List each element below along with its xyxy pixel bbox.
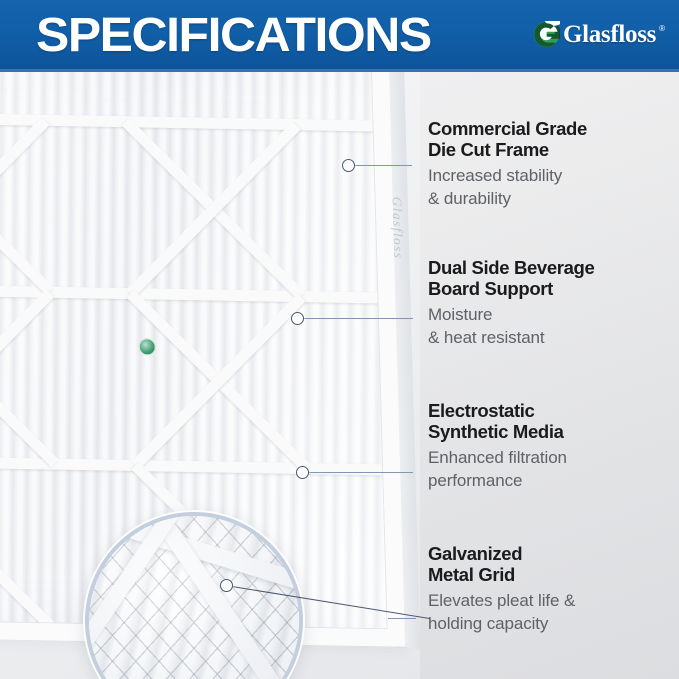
callout-electrostatic-media: Electrostatic Synthetic Media Enhanced f… bbox=[428, 400, 679, 492]
callout-dot-2 bbox=[291, 312, 304, 325]
callout-title: Galvanized Metal Grid bbox=[428, 543, 679, 585]
callout-title: Dual Side Beverage Board Support bbox=[428, 257, 679, 299]
callout-beverage-board-support: Dual Side Beverage Board Support Moistur… bbox=[428, 257, 679, 349]
callout-dot-3 bbox=[296, 466, 309, 479]
glasfloss-g-mark-icon bbox=[533, 21, 560, 48]
magnified-metal-grid-detail bbox=[85, 512, 303, 679]
center-green-mark bbox=[138, 338, 155, 355]
page-header: SPECIFICATIONS Glasfloss ® bbox=[0, 0, 679, 72]
specifications-infographic: SPECIFICATIONS Glasfloss ® bbox=[0, 0, 679, 679]
callout-title: Electrostatic Synthetic Media bbox=[428, 400, 679, 442]
pleated-air-filter-photo: Glasfloss bbox=[0, 72, 420, 679]
frame-brand-label: Glasfloss bbox=[389, 197, 407, 260]
callout-subtitle: Moisture & heat resistant bbox=[428, 303, 679, 349]
leader-line-4-tail bbox=[388, 618, 416, 619]
callout-subtitle: Enhanced filtration performance bbox=[428, 446, 679, 492]
callout-subtitle: Increased stability & durability bbox=[428, 164, 679, 210]
logo-trademark: ® bbox=[659, 24, 665, 34]
leader-line-1 bbox=[354, 165, 412, 166]
callout-galvanized-metal-grid: Galvanized Metal Grid Elevates pleat lif… bbox=[428, 543, 679, 635]
callout-dot-1 bbox=[342, 159, 355, 172]
page-title: SPECIFICATIONS bbox=[36, 10, 431, 62]
leader-line-2 bbox=[303, 318, 413, 319]
brand-logo: Glasfloss ® bbox=[533, 21, 665, 48]
callout-dot-4 bbox=[220, 579, 233, 592]
callout-title: Commercial Grade Die Cut Frame bbox=[428, 118, 679, 160]
callout-subtitle: Elevates pleat life & holding capacity bbox=[428, 589, 679, 635]
callout-die-cut-frame: Commercial Grade Die Cut Frame Increased… bbox=[428, 118, 679, 210]
leader-line-3 bbox=[308, 472, 413, 473]
logo-wordmark: Glasfloss bbox=[563, 21, 656, 48]
